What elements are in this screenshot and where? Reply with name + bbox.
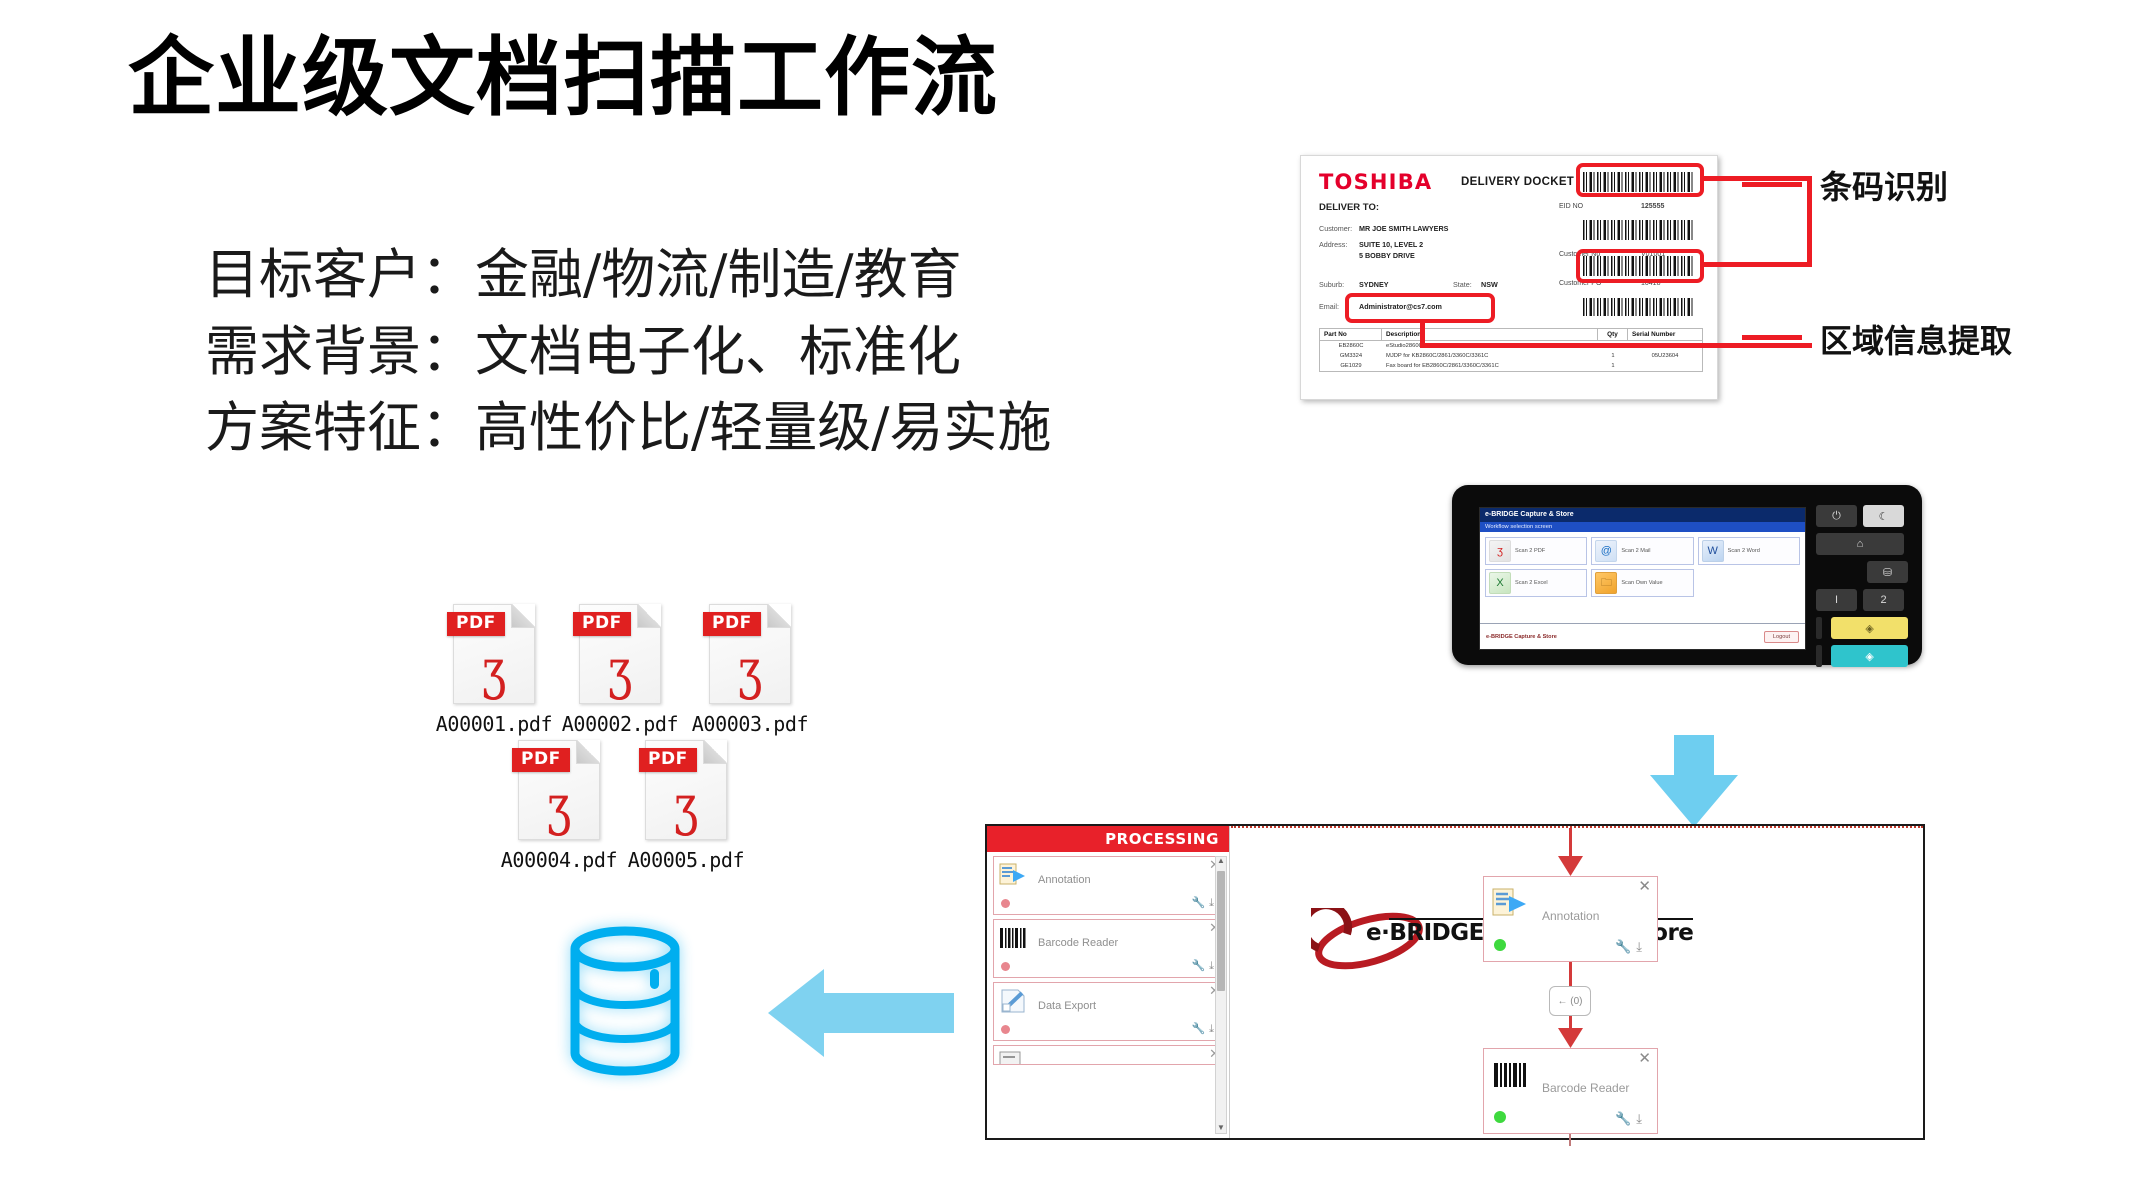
callout-dash-barcode [1742, 182, 1802, 187]
acrobat-glyph-icon: ʒ [527, 779, 591, 833]
pdf-icon: ʒ [1489, 540, 1511, 562]
scroll-up-arrow-icon[interactable]: ▲ [1216, 856, 1226, 866]
barcode-icon [1492, 1059, 1530, 1091]
job-status-key-2[interactable]: 2 [1863, 589, 1904, 611]
node-tools-icons[interactable]: 🔧⤓ [1615, 1111, 1647, 1127]
pdf-file-5[interactable]: PDF ʒ A00005.pdf [622, 740, 750, 872]
canvas-node-barcode-reader[interactable]: Barcode Reader ✕ 🔧⤓ [1483, 1048, 1658, 1134]
highlight-box-barcode-bottom [1576, 249, 1704, 283]
deliver-to-heading: DELIVER TO: [1319, 202, 1379, 213]
document-icon [999, 1051, 1029, 1065]
acrobat-glyph-icon: ʒ [718, 643, 782, 697]
pdf-badge: PDF [512, 748, 570, 772]
highlight-box-email-field [1345, 293, 1495, 323]
highlight-box-barcode-top [1576, 163, 1704, 197]
docket-title: DELIVERY DOCKET [1461, 176, 1574, 188]
pdf-file-name: A00002.pdf [556, 712, 684, 736]
callout-dash-zone [1742, 335, 1802, 340]
ebridge-workflow-window: PROCESSING Annotation ✕ 🔧⤓ [985, 824, 1925, 1140]
leader-line-barcode-b [1700, 262, 1812, 267]
mfp-footer-logo: e-BRIDGE Capture & Store [1486, 634, 1557, 640]
mfp-tile-scan-2-excel[interactable]: X Scan 2 Excel [1485, 569, 1587, 597]
energy-save-key[interactable]: ☾ [1863, 505, 1904, 527]
status-badge [1494, 939, 1506, 951]
docket-field-suburb: Suburb:SYDNEY [1319, 280, 1389, 289]
th-qty: Qty [1598, 329, 1628, 340]
job-status-key-1[interactable]: I [1816, 589, 1857, 611]
mfp-footer: e-BRIDGE Capture & Store Logout [1480, 623, 1805, 649]
pdf-badge: PDF [639, 748, 697, 772]
status-badge [1001, 962, 1010, 971]
data-export-icon [999, 988, 1029, 1014]
table-row: GE1029 Fax board for EB2860C/2861/3360C/… [1320, 361, 1702, 371]
acrobat-glyph-icon: ʒ [462, 643, 526, 697]
docket-field-address-2: 5 BOBBY DRIVE [1359, 251, 1415, 260]
bullet-item-features: 方案特征：高性价比/轻量级/易实施 [205, 390, 1051, 467]
arrowhead-to-barcode-icon [1558, 1028, 1583, 1048]
bullet-list: 目标客户：金融/物流/制造/教育 需求背景：文档电子化、标准化 方案特征：高性价… [205, 237, 1051, 467]
connector-condition-pill[interactable]: ← (0) [1549, 986, 1591, 1016]
pdf-badge: PDF [573, 612, 631, 636]
palette-header-processing: PROCESSING [987, 826, 1229, 852]
pdf-file-4[interactable]: PDF ʒ A00004.pdf [495, 740, 623, 872]
pdf-file-icon: PDF ʒ [579, 604, 661, 704]
acrobat-glyph-icon: ʒ [654, 779, 718, 833]
pdf-badge: PDF [703, 612, 761, 636]
mfp-tile-scan-2-pdf[interactable]: ʒ Scan 2 PDF [1485, 537, 1587, 565]
scroll-down-arrow-icon[interactable]: ▼ [1216, 1123, 1226, 1133]
th-serial: Serial Number [1628, 329, 1702, 340]
docket-eid-label: EID NO [1559, 203, 1583, 210]
mfp-workflow-tiles: ʒ Scan 2 PDF @ Scan 2 Mail W Scan 2 Word… [1480, 532, 1805, 602]
home-key[interactable]: ⌂ [1816, 533, 1904, 555]
callout-label-barcode-recognition: 条码识别 [1820, 162, 1948, 208]
barcode-customer-number [1583, 220, 1693, 240]
workflow-palette: PROCESSING Annotation ✕ 🔧⤓ [987, 826, 1230, 1138]
status-badge [1494, 1111, 1506, 1123]
acrobat-glyph-icon: ʒ [588, 643, 652, 697]
pdf-file-name: A00001.pdf [430, 712, 558, 736]
page-fold-icon [511, 604, 535, 628]
mfp-tile-scan-2-word[interactable]: W Scan 2 Word [1698, 537, 1800, 565]
pdf-file-icon: PDF ʒ [645, 740, 727, 840]
bullet-item-background: 需求背景：文档电子化、标准化 [205, 314, 1051, 391]
arrowhead-incoming-icon [1558, 856, 1583, 876]
palette-node-list: Annotation ✕ 🔧⤓ [987, 852, 1229, 1138]
barcode-extra [1583, 298, 1693, 316]
pdf-file-2[interactable]: PDF ʒ A00002.pdf [556, 604, 684, 736]
leader-line-email-horizontal [1420, 343, 1812, 348]
connector-outgoing [1569, 1134, 1571, 1146]
page-fold-icon [703, 740, 727, 764]
arrow-down-icon [1646, 735, 1742, 832]
close-icon[interactable]: ✕ [1638, 1051, 1651, 1066]
bullet-item-target-customers: 目标客户：金融/物流/制造/教育 [205, 237, 1051, 314]
access-key[interactable]: ⛁ [1867, 561, 1908, 583]
start-key[interactable]: ◈ [1831, 645, 1908, 667]
mfp-tile-scan-own-value[interactable]: 🗀 Scan Own Value [1591, 569, 1693, 597]
canvas-node-annotation[interactable]: Annotation ✕ 🔧⤓ [1483, 876, 1658, 962]
pdf-file-icon: PDF ʒ [518, 740, 600, 840]
status-badge [1001, 899, 1010, 908]
palette-node-annotation[interactable]: Annotation ✕ 🔧⤓ [993, 856, 1225, 915]
database-icon [565, 925, 685, 1080]
power-key[interactable]: ⏻ [1816, 505, 1857, 527]
docket-field-customer: Customer:MR JOE SMITH LAWYERS [1319, 224, 1448, 233]
table-row: GM3324 MJDP for KB2860C/2861/3360C/3361C… [1320, 351, 1702, 361]
palette-node-partial[interactable]: ✕ [993, 1045, 1225, 1065]
docket-line-items-table: Part No Description Qty Serial Number EB… [1319, 328, 1703, 372]
start-key-stub [1816, 645, 1822, 667]
page-fold-icon [637, 604, 661, 628]
mfp-control-panel: e-BRIDGE Capture & Store Workflow select… [1452, 485, 1922, 665]
pdf-file-1[interactable]: PDF ʒ A00001.pdf [430, 604, 558, 736]
docket-eid-value: 125555 [1641, 203, 1664, 210]
folder-icon: 🗀 [1595, 572, 1617, 594]
palette-scrollbar[interactable]: ▲ ▼ [1215, 856, 1227, 1134]
leader-line-barcode-vertical [1807, 176, 1812, 266]
status-badge [1001, 1025, 1010, 1034]
annotation-icon [1492, 887, 1530, 919]
mfp-app-title: e-BRIDGE Capture & Store [1480, 508, 1805, 522]
page-fold-icon [576, 740, 600, 764]
docket-field-address: Address:SUITE 10, LEVEL 2 [1319, 240, 1423, 249]
pdf-file-name: A00003.pdf [686, 712, 814, 736]
th-description: Description [1382, 329, 1598, 340]
mfp-tile-scan-2-mail[interactable]: @ Scan 2 Mail [1591, 537, 1693, 565]
close-icon[interactable]: ✕ [1638, 879, 1651, 894]
pdf-file-icon: PDF ʒ [453, 604, 535, 704]
pdf-file-name: A00004.pdf [495, 848, 623, 872]
logout-button[interactable]: Logout [1764, 631, 1799, 643]
stop-key[interactable]: ◈ [1831, 617, 1908, 639]
mfp-hardware-keys: ⏻ ☾ ⌂ ⛁ I 2 ◈ ◈ [1816, 505, 1908, 673]
callout-label-zone-extraction: 区域信息提取 [1820, 316, 2012, 362]
toshiba-logo: TOSHIBA [1319, 170, 1432, 194]
stop-key-stub [1816, 617, 1822, 639]
pdf-file-3[interactable]: PDF ʒ A00003.pdf [686, 604, 814, 736]
pdf-file-name: A00005.pdf [622, 848, 750, 872]
th-part-no: Part No [1320, 329, 1382, 340]
scrollbar-thumb[interactable] [1217, 871, 1225, 991]
pdf-badge: PDF [447, 612, 505, 636]
leader-line-barcode-a [1700, 176, 1812, 181]
annotation-icon [999, 862, 1029, 888]
barcode-icon [999, 925, 1029, 951]
page-title: 企业级文档扫描工作流 [128, 30, 998, 126]
word-icon: W [1702, 540, 1724, 562]
page-fold-icon [767, 604, 791, 628]
pdf-file-icon: PDF ʒ [709, 604, 791, 704]
palette-node-barcode-reader[interactable]: Barcode Reader ✕ 🔧⤓ [993, 919, 1225, 978]
node-tools-icons[interactable]: 🔧⤓ [1615, 939, 1647, 955]
workflow-canvas[interactable]: e·BRIDGE Capture & Store Annotation ✕ 🔧⤓ [1231, 826, 1923, 1138]
arrow-left-icon [768, 965, 954, 1066]
mail-icon: @ [1595, 540, 1617, 562]
excel-icon: X [1489, 572, 1511, 594]
palette-node-data-export[interactable]: Data Export ✕ 🔧⤓ [993, 982, 1225, 1041]
mfp-sub-title: Workflow selection screen [1480, 522, 1805, 532]
docket-field-state: State:NSW [1453, 280, 1498, 289]
mfp-touchscreen[interactable]: e-BRIDGE Capture & Store Workflow select… [1479, 507, 1806, 650]
